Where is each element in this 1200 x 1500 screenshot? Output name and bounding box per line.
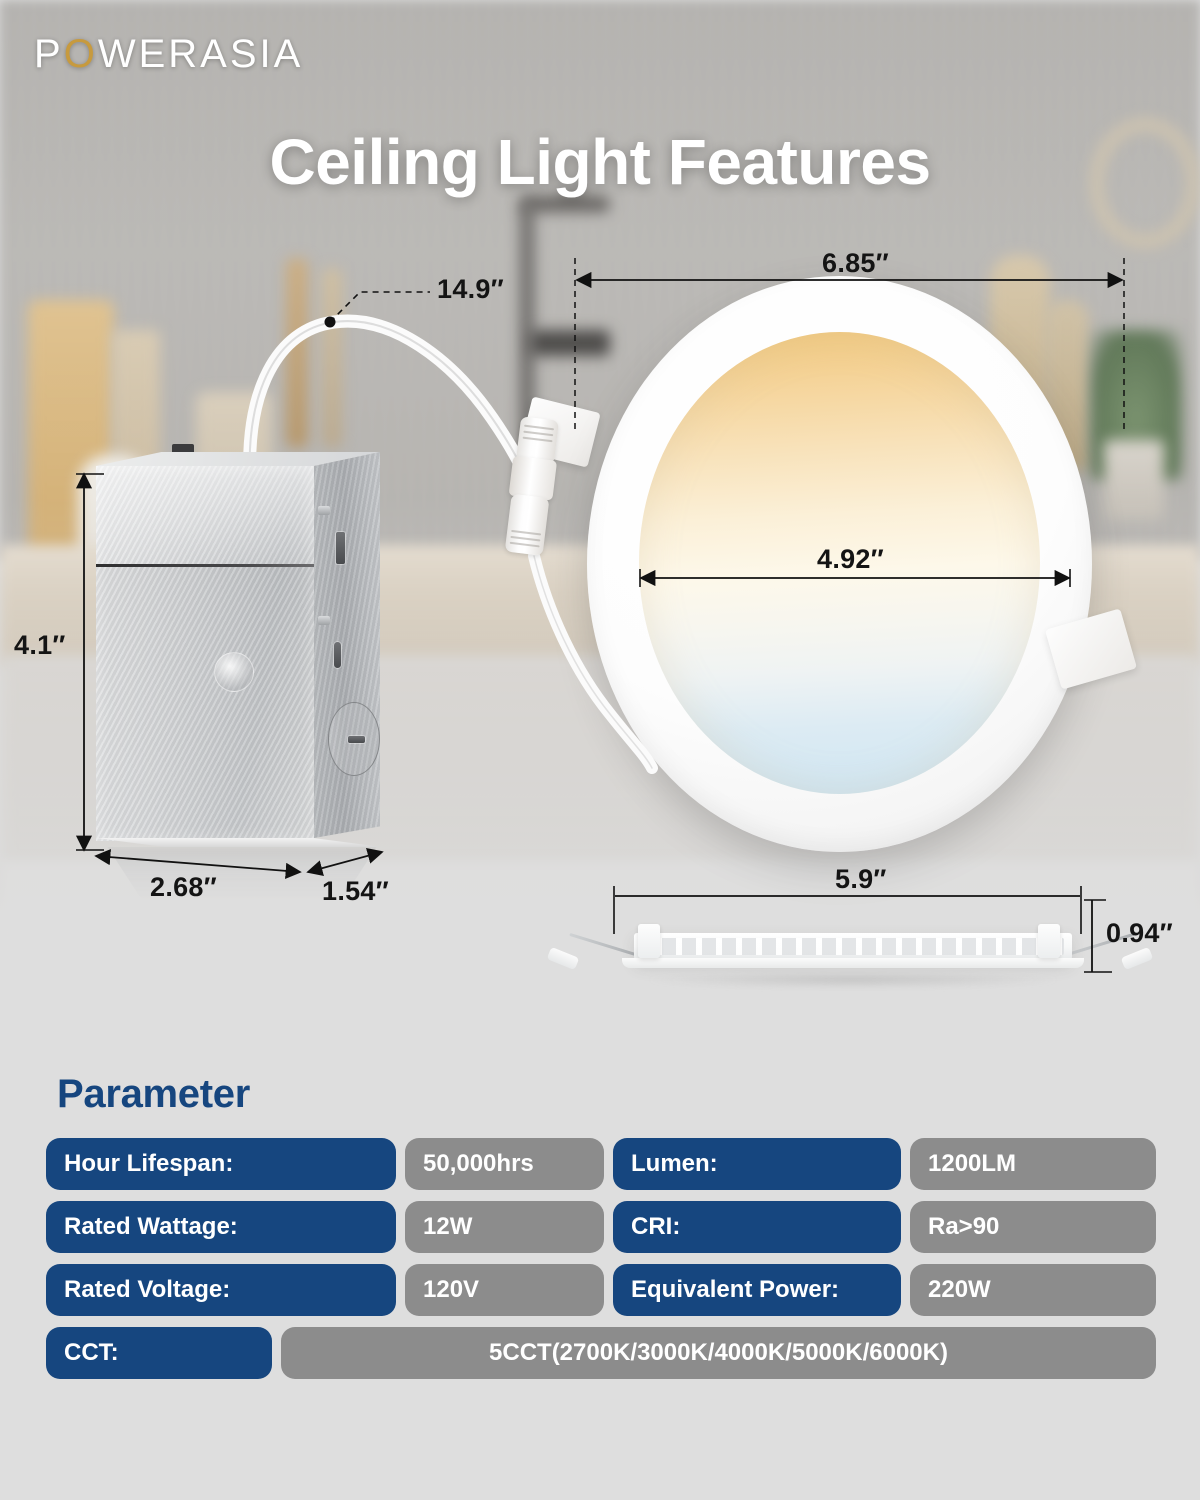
param-label-rated-wattage: Rated Wattage: [46, 1201, 396, 1253]
dimension-label-cutout-width: 5.9″ [835, 864, 887, 895]
param-label-cri: CRI: [613, 1201, 901, 1253]
parameter-section-title: Parameter [57, 1072, 250, 1117]
dimension-label-housing-height: 0.94″ [1106, 918, 1173, 949]
param-value-hour-lifespan: 50,000hrs [405, 1138, 604, 1190]
param-label-rated-voltage: Rated Voltage: [46, 1264, 396, 1316]
param-label-cct: CCT: [46, 1327, 272, 1379]
dimension-label-cable-length: 14.9″ [437, 274, 504, 305]
dimension-label-jbox-width: 2.68″ [150, 872, 217, 903]
parameter-table: Hour Lifespan: 50,000hrs Lumen: 1200LM R… [46, 1138, 1156, 1390]
param-label-lumen: Lumen: [613, 1138, 901, 1190]
table-row: Rated Voltage: 120V Equivalent Power: 22… [46, 1264, 1156, 1316]
table-row: Rated Wattage: 12W CRI: Ra>90 [46, 1201, 1156, 1253]
dimension-label-jbox-height: 4.1″ [14, 630, 66, 661]
param-label-equivalent-power: Equivalent Power: [613, 1264, 901, 1316]
hero-section: POWERASIA Ceiling Light Features [0, 0, 1200, 1040]
dimension-label-jbox-depth: 1.54″ [322, 876, 389, 907]
table-row: Hour Lifespan: 50,000hrs Lumen: 1200LM [46, 1138, 1156, 1190]
parameter-section: Parameter Hour Lifespan: 50,000hrs Lumen… [0, 1040, 1200, 1500]
param-label-hour-lifespan: Hour Lifespan: [46, 1138, 396, 1190]
table-row: CCT: 5CCT(2700K/3000K/4000K/5000K/6000K) [46, 1327, 1156, 1379]
param-value-cct: 5CCT(2700K/3000K/4000K/5000K/6000K) [281, 1327, 1156, 1379]
param-value-rated-voltage: 120V [405, 1264, 604, 1316]
param-value-equivalent-power: 220W [910, 1264, 1156, 1316]
param-value-lumen: 1200LM [910, 1138, 1156, 1190]
param-value-cri: Ra>90 [910, 1201, 1156, 1253]
dimension-label-lens-diameter: 4.92″ [817, 544, 884, 575]
param-value-rated-wattage: 12W [405, 1201, 604, 1253]
dimension-label-trim-diameter: 6.85″ [822, 248, 889, 279]
